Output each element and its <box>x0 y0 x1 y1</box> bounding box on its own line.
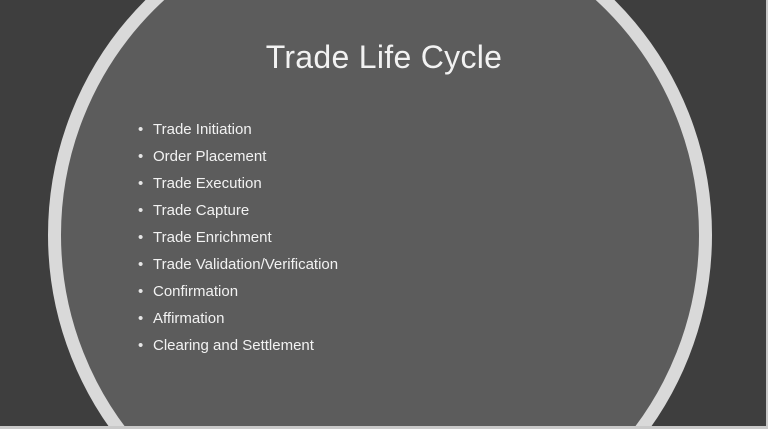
list-item-label: Order Placement <box>153 143 266 170</box>
slide-content: Trade Life Cycle • Trade Initiation • Or… <box>0 0 768 429</box>
list-item: • Trade Capture <box>138 197 338 224</box>
list-item-label: Trade Initiation <box>153 116 252 143</box>
list-item-label: Trade Execution <box>153 170 262 197</box>
list-item-label: Trade Capture <box>153 197 249 224</box>
list-item: • Trade Initiation <box>138 116 338 143</box>
list-item-label: Affirmation <box>153 305 224 332</box>
list-item: • Clearing and Settlement <box>138 332 338 359</box>
list-item: • Trade Execution <box>138 170 338 197</box>
bullet-dot-icon: • <box>138 224 153 251</box>
list-item-label: Clearing and Settlement <box>153 332 314 359</box>
list-item-label: Trade Enrichment <box>153 224 272 251</box>
presentation-slide: Trade Life Cycle • Trade Initiation • Or… <box>0 0 768 429</box>
list-item: • Trade Enrichment <box>138 224 338 251</box>
bullet-dot-icon: • <box>138 305 153 332</box>
list-item: • Order Placement <box>138 143 338 170</box>
bullet-list: • Trade Initiation • Order Placement • T… <box>138 116 338 359</box>
list-item: • Confirmation <box>138 278 338 305</box>
page-title: Trade Life Cycle <box>0 36 768 78</box>
list-item-label: Confirmation <box>153 278 238 305</box>
bullet-dot-icon: • <box>138 116 153 143</box>
bullet-dot-icon: • <box>138 251 153 278</box>
list-item: • Trade Validation/Verification <box>138 251 338 278</box>
bullet-dot-icon: • <box>138 278 153 305</box>
bullet-dot-icon: • <box>138 332 153 359</box>
bullet-dot-icon: • <box>138 197 153 224</box>
list-item: • Affirmation <box>138 305 338 332</box>
bullet-dot-icon: • <box>138 143 153 170</box>
bullet-dot-icon: • <box>138 170 153 197</box>
list-item-label: Trade Validation/Verification <box>153 251 338 278</box>
